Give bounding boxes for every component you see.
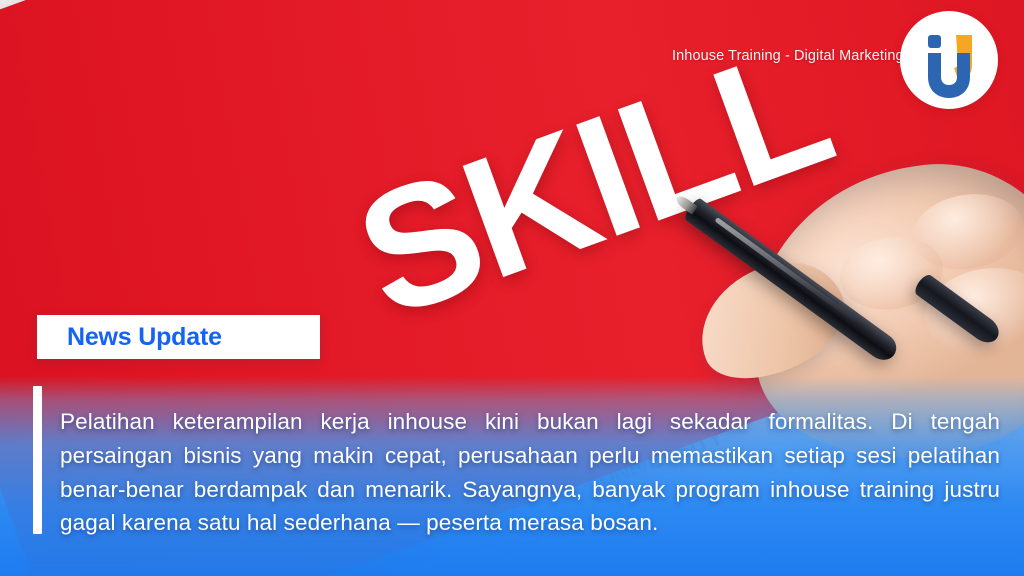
company-logo[interactable] (900, 11, 998, 109)
news-update-label: News Update (37, 323, 222, 352)
news-update-badge: News Update (37, 315, 320, 359)
body-panel: Pelatihan keterampilan kerja inhouse kin… (0, 376, 1024, 576)
header-title: Inhouse Training - Digital Marketing (672, 48, 904, 64)
logo-mark-icon (900, 11, 998, 109)
body-paragraph: Pelatihan keterampilan kerja inhouse kin… (60, 405, 1000, 540)
news-banner: COACHINGSTRATEGYLEARNSKILLDISCOVERTEACHE… (0, 0, 1024, 576)
accent-bar (33, 386, 42, 534)
